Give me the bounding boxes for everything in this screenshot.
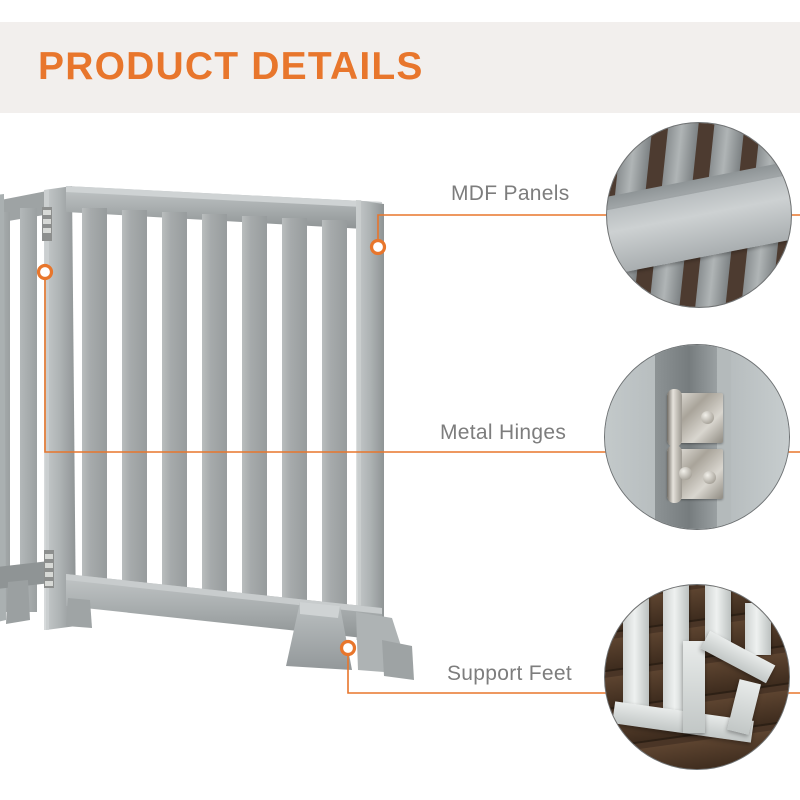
support-foot-rear (356, 612, 414, 680)
gate-main-panel (66, 186, 384, 644)
inset-photo-metal-hinges (604, 344, 790, 530)
infographic-canvas: PRODUCT DETAILS (0, 0, 800, 800)
inset-photo-support-feet (604, 584, 790, 770)
callout-label-support-feet: Support Feet (447, 662, 572, 686)
inset-photo-mdf-panels (606, 122, 792, 308)
gate-slats (82, 208, 347, 614)
support-foot-left-small (66, 598, 92, 628)
callout-label-mdf-panels: MDF Panels (451, 182, 570, 206)
callout-label-metal-hinges: Metal Hinges (440, 421, 566, 445)
hinge-hardware-top (42, 207, 52, 241)
page-title: PRODUCT DETAILS (38, 47, 424, 86)
product-illustration (0, 150, 460, 730)
hinge-hardware-bottom (44, 550, 54, 588)
